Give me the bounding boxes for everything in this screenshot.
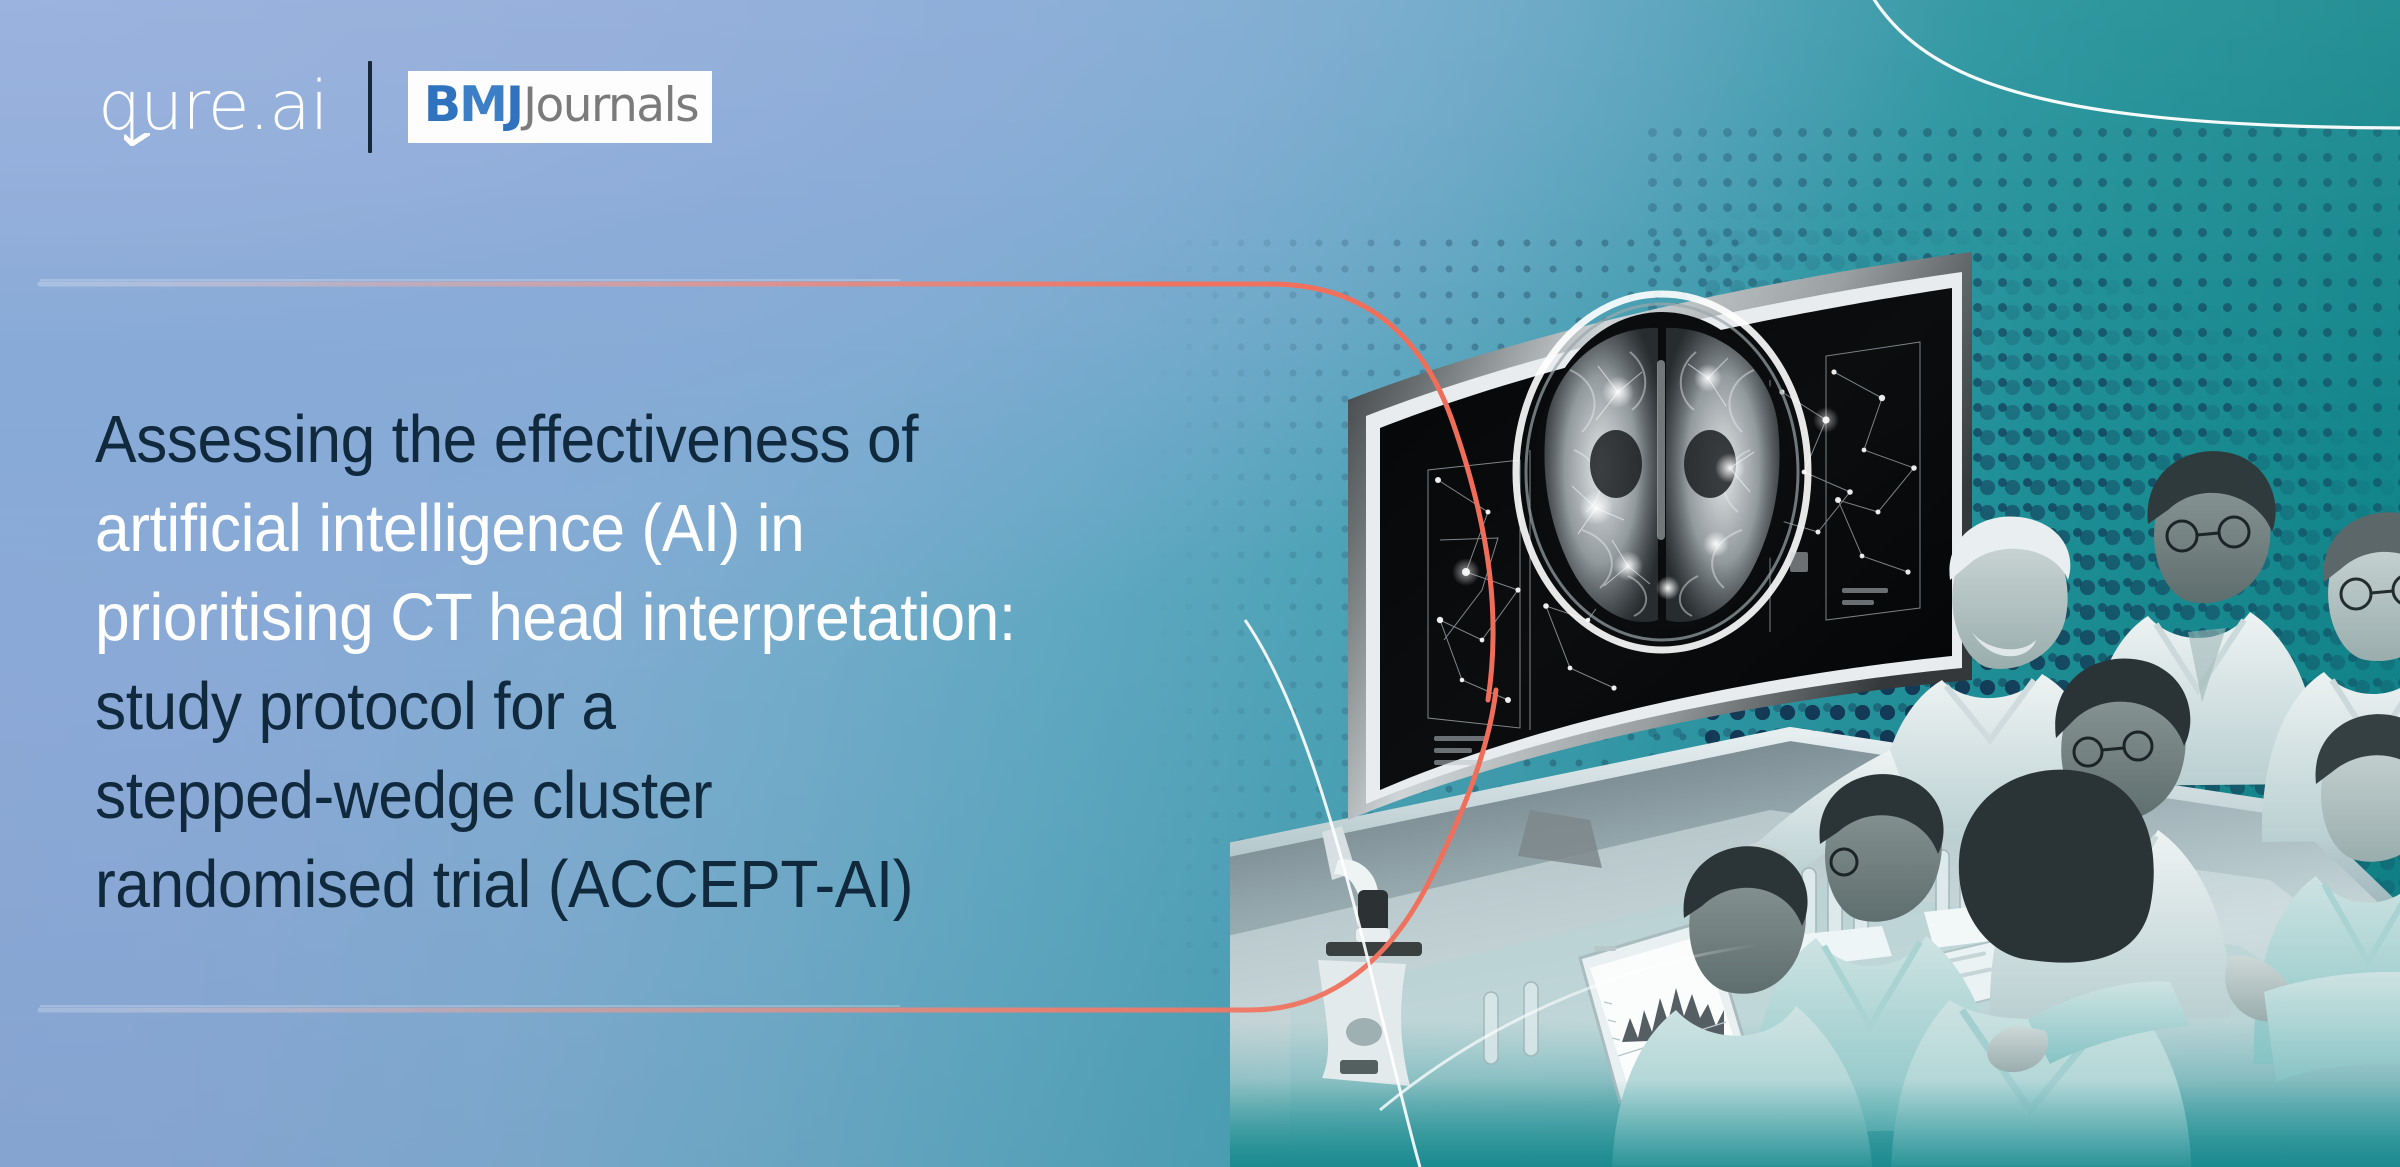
bmj-journals-logo[interactable]: BMJ Journals [408,71,712,143]
headline-line-6: randomised trial (ACCEPT-AI) [95,840,1295,929]
bmj-letter-j: J [506,76,522,133]
headline-line-5: stepped-wedge cluster [95,751,1295,840]
headline-line-3: prioritising CT head interpretation: [95,573,1295,662]
qure-ai-logo[interactable]: qure.ai [98,73,328,141]
bmj-journals-word: Journals [523,82,698,129]
headline-line-1: Assessing the effectiveness of [95,395,1295,484]
bmj-letter-b: B [424,76,459,133]
headline-line-4: study protocol for a [95,662,1295,751]
logo-bar: qure.ai BMJ Journals [98,62,712,152]
promo-banner: qure.ai BMJ Journals Assessing the effec… [0,0,2400,1167]
headline-line-2: artificial intelligence (AI) in [95,484,1295,573]
check-tick-icon [124,133,150,146]
vertical-divider [368,61,372,153]
hero-artwork [1230,120,2400,1167]
bmj-mark: BMJ [424,80,522,129]
page-title: Assessing the effectiveness of artificia… [95,395,1385,929]
axial-ct-head-brain-scan [1516,294,1808,650]
bmj-letter-m: M [459,76,506,133]
